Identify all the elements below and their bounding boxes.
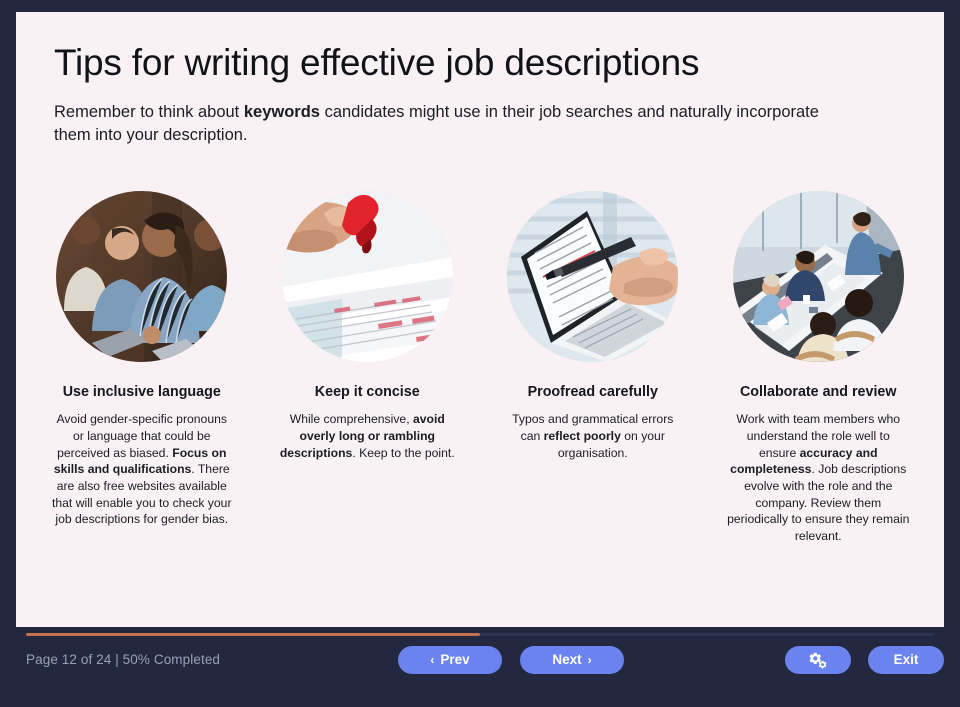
tip-card-body: Typos and grammatical errors can reflect… xyxy=(501,411,685,461)
tip-card: Use inclusive language Avoid gender-spec… xyxy=(50,191,234,544)
tip-card-body: Work with team members who understand th… xyxy=(727,411,911,545)
player-controls-bar: Page 12 of 24 | 50% Completed ‹ Prev Nex… xyxy=(0,640,960,707)
gears-icon xyxy=(809,651,828,670)
tip-card: Proofread carefully Typos and grammatica… xyxy=(501,191,685,544)
prev-button[interactable]: ‹ Prev xyxy=(398,646,502,674)
photo-pen-pointing-at-laptop-text xyxy=(507,191,678,362)
tip-card-heading: Proofread carefully xyxy=(528,384,658,402)
exit-button-label: Exit xyxy=(894,653,919,667)
tip-card: Keep it concise While comprehensive, avo… xyxy=(276,191,460,544)
page-title: Tips for writing effective job descripti… xyxy=(54,42,906,85)
chevron-right-icon: › xyxy=(588,654,592,666)
photo-team-meeting-boardroom xyxy=(733,191,904,362)
tip-card: Collaborate and review Work with team me… xyxy=(727,191,911,544)
settings-button[interactable] xyxy=(785,646,851,674)
slide-content: Tips for writing effective job descripti… xyxy=(16,12,944,147)
subtitle-keyword: keywords xyxy=(244,103,320,121)
page-status-text: Page 12 of 24 | 50% Completed xyxy=(26,652,220,667)
navigation-buttons: ‹ Prev Next › xyxy=(398,646,624,674)
subtitle-text-pre: Remember to think about xyxy=(54,103,244,121)
tips-card-row: Use inclusive language Avoid gender-spec… xyxy=(16,191,944,544)
tip-card-body: Avoid gender-specific pronouns or langua… xyxy=(50,411,234,528)
photo-red-marker-editing-document xyxy=(282,191,453,362)
progress-bar[interactable] xyxy=(26,633,934,636)
next-button-label: Next xyxy=(552,653,581,667)
next-button[interactable]: Next › xyxy=(520,646,624,674)
tip-card-body: While comprehensive, avoid overly long o… xyxy=(276,411,460,461)
tip-card-heading: Keep it concise xyxy=(315,384,420,402)
tip-card-heading: Collaborate and review xyxy=(740,384,897,402)
utility-buttons: Exit xyxy=(785,646,944,674)
slide-subtitle: Remember to think about keywords candida… xyxy=(54,101,844,148)
chevron-left-icon: ‹ xyxy=(430,654,434,666)
progress-bar-fill xyxy=(26,633,480,636)
prev-button-label: Prev xyxy=(440,653,469,667)
slide-panel: Tips for writing effective job descripti… xyxy=(16,12,944,627)
tip-card-heading: Use inclusive language xyxy=(63,384,221,402)
exit-button[interactable]: Exit xyxy=(868,646,944,674)
course-slide-viewer: Tips for writing effective job descripti… xyxy=(0,0,960,707)
photo-team-collaborating xyxy=(56,191,227,362)
